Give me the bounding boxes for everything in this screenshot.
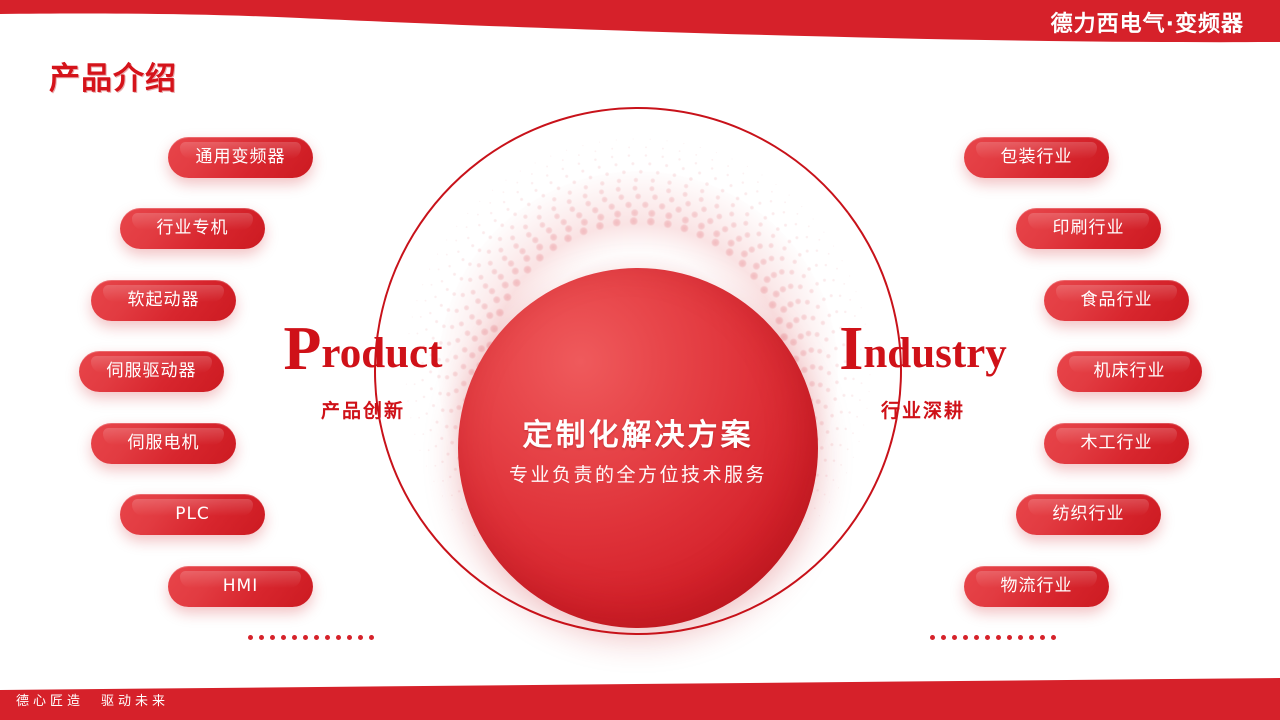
more-dot	[347, 635, 352, 640]
center-title: 定制化解决方案	[523, 410, 754, 454]
heading-product: Product 产品创新	[268, 318, 458, 423]
heading-industry-initial: I	[839, 315, 863, 383]
industry-more-dots	[930, 635, 1056, 640]
more-dot	[974, 635, 979, 640]
more-dot	[325, 635, 330, 640]
footer-band	[0, 670, 1280, 720]
industry-pill-2[interactable]: 食品行业	[1044, 280, 1189, 321]
industry-pill-0[interactable]: 包装行业	[964, 137, 1109, 178]
more-dot	[281, 635, 286, 640]
brand-logo-text: 德力西电气·变频器	[1051, 6, 1244, 38]
product-pill-4[interactable]: 伺服电机	[91, 423, 236, 464]
heading-product-initial: P	[284, 315, 322, 383]
more-dot	[1040, 635, 1045, 640]
more-dot	[996, 635, 1001, 640]
industry-pill-6[interactable]: 物流行业	[964, 566, 1109, 607]
more-dot	[952, 635, 957, 640]
slide-canvas: 德力西电气·变频器 产品介绍 定制化解决方案 专业负责的全方位技术服务	[0, 0, 1280, 720]
more-dot	[314, 635, 319, 640]
more-dot	[369, 635, 374, 640]
heading-product-zh: 产品创新	[268, 396, 458, 423]
more-dot	[930, 635, 935, 640]
product-pill-5[interactable]: PLC	[120, 494, 265, 535]
more-dot	[303, 635, 308, 640]
more-dot	[248, 635, 253, 640]
center-subtitle: 专业负责的全方位技术服务	[509, 460, 767, 487]
more-dot	[1007, 635, 1012, 640]
more-dot	[963, 635, 968, 640]
heading-industry-rest: ndustry	[863, 330, 1006, 377]
heading-industry-zh: 行业深耕	[828, 396, 1018, 423]
industry-pill-4[interactable]: 木工行业	[1044, 423, 1189, 464]
more-dot	[985, 635, 990, 640]
center-circle: 定制化解决方案 专业负责的全方位技术服务	[458, 268, 818, 628]
product-pill-3[interactable]: 伺服驱动器	[79, 351, 224, 392]
page-title: 产品介绍	[49, 53, 177, 98]
more-dot	[270, 635, 275, 640]
heading-industry: Industry 行业深耕	[828, 318, 1018, 423]
product-more-dots	[248, 635, 374, 640]
product-pill-2[interactable]: 软起动器	[91, 280, 236, 321]
more-dot	[1051, 635, 1056, 640]
product-pill-1[interactable]: 行业专机	[120, 208, 265, 249]
more-dot	[358, 635, 363, 640]
more-dot	[336, 635, 341, 640]
industry-pill-5[interactable]: 纺织行业	[1016, 494, 1161, 535]
footer-slogan: 德心匠造 驱动未来	[16, 690, 169, 709]
more-dot	[292, 635, 297, 640]
industry-pill-1[interactable]: 印刷行业	[1016, 208, 1161, 249]
more-dot	[941, 635, 946, 640]
product-pill-6[interactable]: HMI	[168, 566, 313, 607]
industry-pill-3[interactable]: 机床行业	[1057, 351, 1202, 392]
more-dot	[1018, 635, 1023, 640]
product-pill-0[interactable]: 通用变频器	[168, 137, 313, 178]
more-dot	[1029, 635, 1034, 640]
heading-product-rest: roduct	[321, 330, 442, 377]
more-dot	[259, 635, 264, 640]
